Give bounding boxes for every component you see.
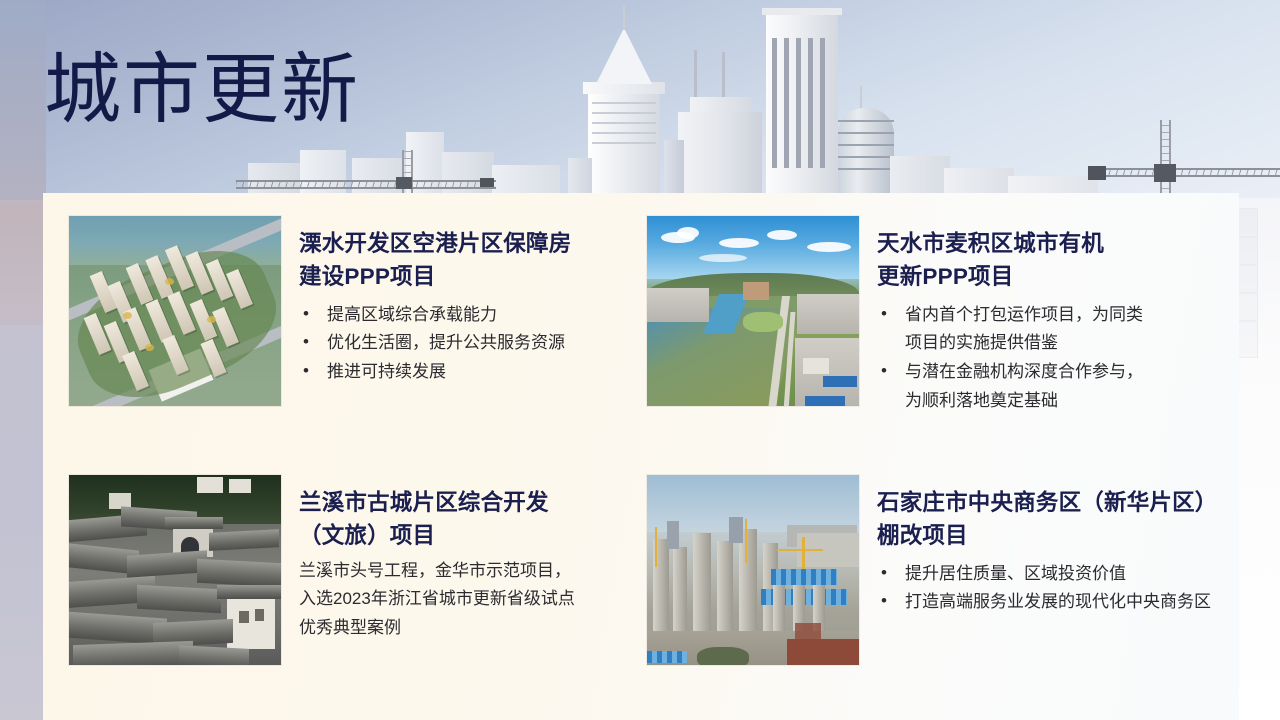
slide-canvas: 城市更新 — [0, 0, 1280, 720]
project-text-3: 兰溪市古城片区综合开发 （文旅）项目 兰溪市头号工程，金华市示范项目， 入选20… — [299, 474, 638, 666]
project-paragraph-3: 兰溪市头号工程，金华市示范项目， 入选2023年浙江省城市更新省级试点 优秀典型… — [299, 557, 638, 644]
list-item: 与潜在金融机构深度合作参与， 为顺利落地奠定基础 — [877, 358, 1228, 416]
project-image-4 — [646, 474, 860, 666]
project-text-2: 天水市麦积区城市有机 更新PPP项目 省内首个打包运作项目，为同类 项目的实施提… — [877, 215, 1228, 416]
list-item: 优化生活圈，提升公共服务资源 — [299, 329, 638, 358]
project-card-2[interactable]: 天水市麦积区城市有机 更新PPP项目 省内首个打包运作项目，为同类 项目的实施提… — [646, 215, 1228, 416]
list-item: 省内首个打包运作项目，为同类 项目的实施提供借鉴 — [877, 301, 1228, 359]
project-image-3 — [68, 474, 282, 666]
project-text-1: 溧水开发区空港片区保障房 建设PPP项目 提高区域综合承载能力 优化生活圈，提升… — [299, 215, 638, 407]
project-title-4: 石家庄市中央商务区（新华片区） 棚改项目 — [877, 486, 1228, 553]
page-title: 城市更新 — [44, 52, 360, 129]
project-card-4[interactable]: 石家庄市中央商务区（新华片区） 棚改项目 提升居住质量、区域投资价值 打造高端服… — [646, 474, 1228, 666]
project-title-3: 兰溪市古城片区综合开发 （文旅）项目 — [299, 486, 638, 553]
project-card-grid: 溧水开发区空港片区保障房 建设PPP项目 提高区域综合承载能力 优化生活圈，提升… — [68, 215, 1228, 705]
project-title-1: 溧水开发区空港片区保障房 建设PPP项目 — [299, 227, 638, 294]
list-item: 打造高端服务业发展的现代化中央商务区 — [877, 588, 1228, 617]
project-image-1 — [68, 215, 282, 407]
project-card-1[interactable]: 溧水开发区空港片区保障房 建设PPP项目 提高区域综合承载能力 优化生活圈，提升… — [68, 215, 638, 407]
project-bullets-2: 省内首个打包运作项目，为同类 项目的实施提供借鉴 与潜在金融机构深度合作参与， … — [877, 301, 1228, 417]
project-text-4: 石家庄市中央商务区（新华片区） 棚改项目 提升居住质量、区域投资价值 打造高端服… — [877, 474, 1228, 666]
content-panel: 溧水开发区空港片区保障房 建设PPP项目 提高区域综合承载能力 优化生活圈，提升… — [43, 193, 1239, 720]
list-item: 推进可持续发展 — [299, 358, 638, 387]
list-item: 提高区域综合承载能力 — [299, 301, 638, 330]
project-bullets-1: 提高区域综合承载能力 优化生活圈，提升公共服务资源 推进可持续发展 — [299, 301, 638, 388]
left-color-band-accent — [0, 205, 46, 325]
project-image-2 — [646, 215, 860, 407]
project-card-3[interactable]: 兰溪市古城片区综合开发 （文旅）项目 兰溪市头号工程，金华市示范项目， 入选20… — [68, 474, 638, 666]
project-bullets-4: 提升居住质量、区域投资价值 打造高端服务业发展的现代化中央商务区 — [877, 560, 1228, 618]
tower-crane-icon — [236, 150, 496, 194]
list-item: 提升居住质量、区域投资价值 — [877, 560, 1228, 589]
project-title-2: 天水市麦积区城市有机 更新PPP项目 — [877, 227, 1228, 294]
